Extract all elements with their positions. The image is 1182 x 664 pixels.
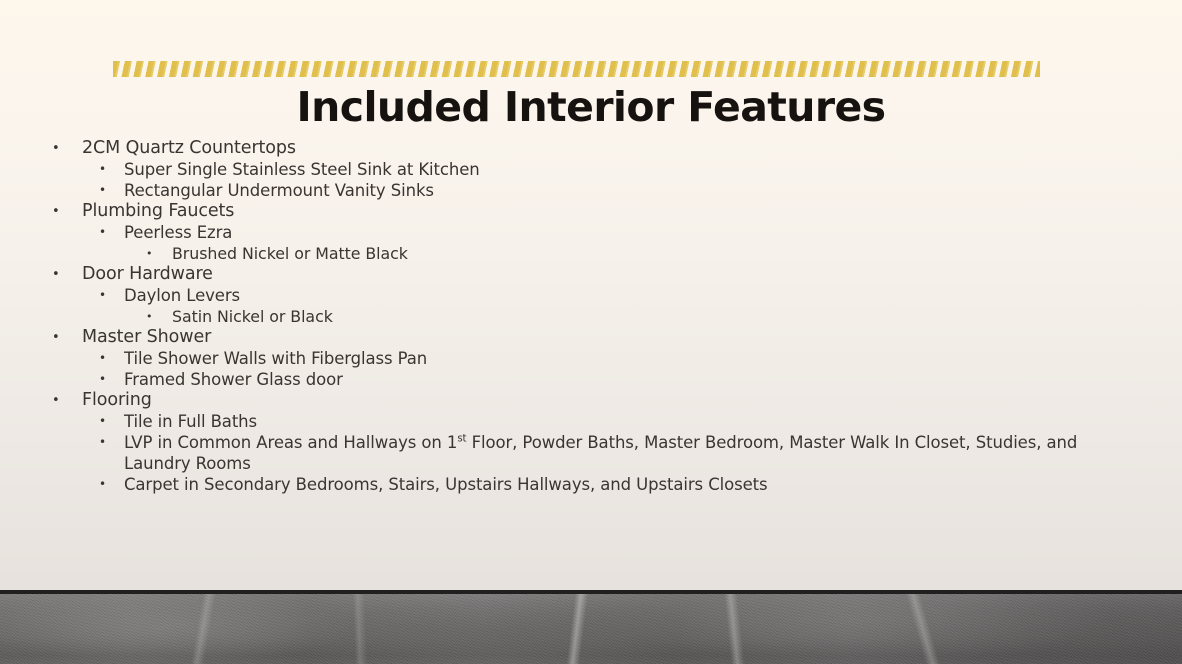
- bullet-icon: •: [99, 369, 106, 390]
- list-item: • Plumbing Faucets: [0, 201, 1182, 222]
- list-item: • Peerless Ezra: [0, 222, 1182, 243]
- list-item-label: Super Single Stainless Steel Sink at Kit…: [124, 159, 1182, 180]
- bullet-icon: •: [146, 306, 152, 327]
- bullet-icon: •: [99, 411, 106, 432]
- list-item-label: Satin Nickel or Black: [172, 306, 1182, 327]
- presentation-slide: Included Interior Features • 2CM Quartz …: [0, 0, 1182, 664]
- bullet-icon: •: [52, 201, 60, 222]
- list-item: • Tile in Full Baths: [0, 411, 1182, 432]
- bullet-icon: •: [99, 348, 106, 369]
- list-item-label: Master Shower: [82, 327, 1182, 348]
- bullet-list: • 2CM Quartz Countertops • Super Single …: [0, 138, 1182, 495]
- list-item-label: Rectangular Undermount Vanity Sinks: [124, 180, 1182, 201]
- gold-dash-decoration-bar: [113, 61, 1040, 77]
- list-item-label: Tile in Full Baths: [124, 411, 1182, 432]
- list-item: • Daylon Levers: [0, 285, 1182, 306]
- list-item: • 2CM Quartz Countertops: [0, 138, 1182, 159]
- list-item: • Door Hardware: [0, 264, 1182, 285]
- list-item: • Super Single Stainless Steel Sink at K…: [0, 159, 1182, 180]
- list-item-label: Daylon Levers: [124, 285, 1182, 306]
- list-item-label: Carpet in Secondary Bedrooms, Stairs, Up…: [124, 474, 1182, 495]
- list-item: • Satin Nickel or Black: [0, 306, 1182, 327]
- list-item-label: Tile Shower Walls with Fiberglass Pan: [124, 348, 1182, 369]
- list-item-label: Plumbing Faucets: [82, 201, 1182, 222]
- bullet-icon: •: [99, 159, 106, 180]
- list-item: • Tile Shower Walls with Fiberglass Pan: [0, 348, 1182, 369]
- list-item: • Rectangular Undermount Vanity Sinks: [0, 180, 1182, 201]
- bullet-icon: •: [99, 285, 106, 306]
- list-item-label: Peerless Ezra: [124, 222, 1182, 243]
- list-item: • Master Shower: [0, 327, 1182, 348]
- list-item-label-part-1: LVP in Common Areas and Hallways on 1: [124, 433, 457, 452]
- list-item: • LVP in Common Areas and Hallways on 1s…: [0, 432, 1182, 474]
- bullet-icon: •: [99, 474, 106, 495]
- bullet-icon: •: [52, 327, 60, 348]
- concrete-stone-texture-strip: [0, 590, 1182, 664]
- bullet-icon: •: [99, 222, 106, 243]
- list-item: • Carpet in Secondary Bedrooms, Stairs, …: [0, 474, 1182, 495]
- list-item-label: 2CM Quartz Countertops: [82, 138, 1182, 159]
- bullet-icon: •: [52, 138, 60, 159]
- list-item-label: Brushed Nickel or Matte Black: [172, 243, 1182, 264]
- slide-title: Included Interior Features: [0, 83, 1182, 131]
- bullet-icon: •: [52, 390, 60, 411]
- list-item: • Flooring: [0, 390, 1182, 411]
- list-item-label: Framed Shower Glass door: [124, 369, 1182, 390]
- list-item-label: LVP in Common Areas and Hallways on 1st …: [124, 432, 1094, 474]
- list-item: • Brushed Nickel or Matte Black: [0, 243, 1182, 264]
- bullet-icon: •: [52, 264, 60, 285]
- list-item-label: Flooring: [82, 390, 1182, 411]
- bullet-icon: •: [99, 180, 106, 201]
- bullet-icon: •: [99, 432, 106, 453]
- list-item: • Framed Shower Glass door: [0, 369, 1182, 390]
- bullet-icon: •: [146, 243, 152, 264]
- list-item-label: Door Hardware: [82, 264, 1182, 285]
